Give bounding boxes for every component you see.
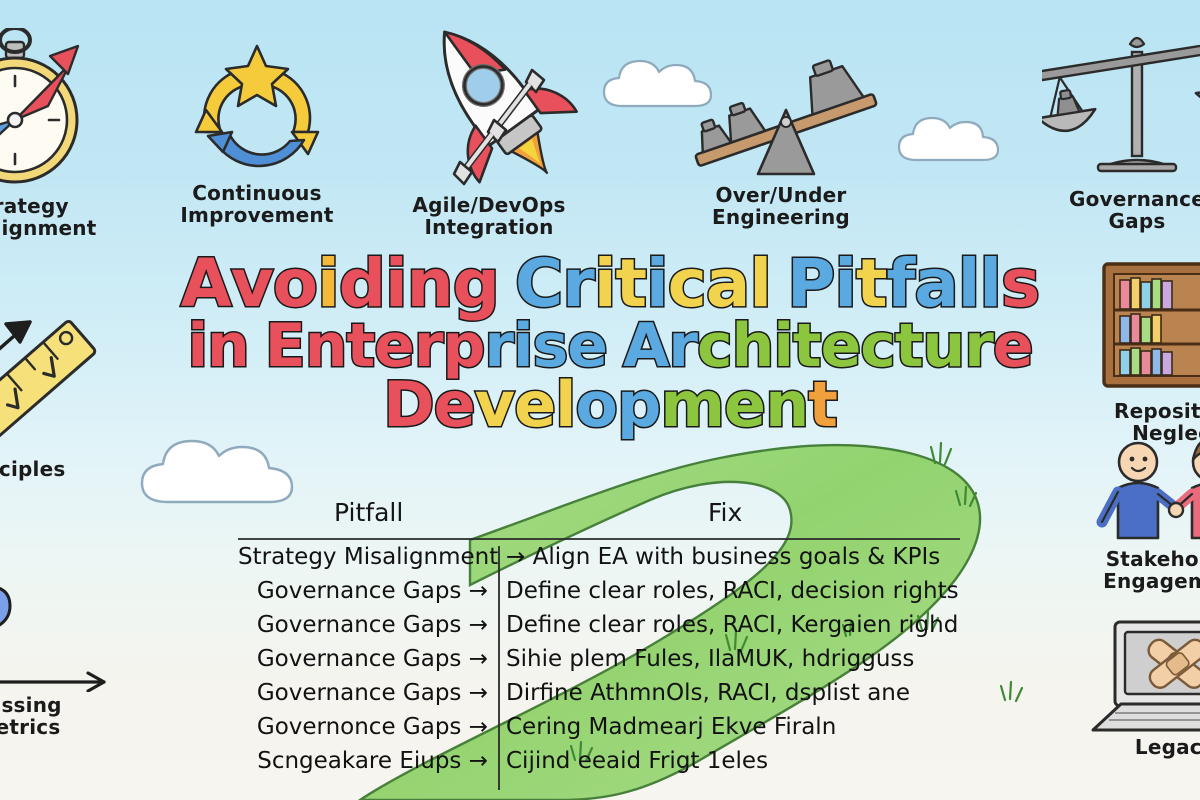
title-letter: i bbox=[773, 317, 793, 376]
icon-card-strategy-misalignment: Strategy Misalignment bbox=[0, 28, 114, 240]
title-letter: P bbox=[787, 252, 834, 317]
cell-fix: Dirfine AthmnOls, RACI, dsplist ane bbox=[496, 680, 960, 706]
cell-fix: → Align EA with business goals & KPIs bbox=[496, 544, 960, 570]
title-letter: e bbox=[514, 375, 555, 436]
icon-card-legacy-systems: Legacy bbox=[1080, 618, 1200, 758]
icon-card-agile-devops: Agile/DevOps Integration bbox=[394, 10, 584, 239]
title-letter: n bbox=[765, 375, 808, 436]
table-row: Governance Gaps →Define clear roles, RAC… bbox=[238, 612, 960, 646]
table-header-divider bbox=[238, 538, 960, 540]
icon-card-over-under-engineering: Over/Under Engineering bbox=[686, 52, 876, 229]
title-letter: a bbox=[914, 252, 958, 317]
title-letter: r bbox=[964, 317, 993, 376]
cell-pitfall: Governance Gaps → bbox=[238, 680, 496, 706]
icon-label-over-under-engineering: Over/Under Engineering bbox=[686, 184, 876, 229]
cell-pitfall: Governance Gaps → bbox=[238, 612, 496, 638]
question-mark-icon bbox=[0, 582, 118, 692]
icon-label-missing-metrics: Missing Metrics bbox=[0, 694, 118, 739]
title-letter: c bbox=[697, 317, 732, 376]
seesaw-weights-icon bbox=[686, 52, 886, 182]
table-row: Strategy Misalignment→ Align EA with bus… bbox=[238, 544, 960, 578]
pitfall-fix-table: Pitfall Fix Strategy Misalignment→ Align… bbox=[238, 498, 960, 782]
title-letter: i bbox=[385, 252, 407, 317]
icon-card-stakeholder-engagement: Stakeholder Engagement bbox=[1080, 438, 1200, 593]
title-letter: o bbox=[273, 252, 317, 317]
icon-card-principles: Principles bbox=[0, 286, 114, 480]
table-row: Governonce Gaps →Cering Madmearj Ekve Fi… bbox=[238, 714, 960, 748]
title-letter: i bbox=[317, 252, 339, 317]
title-letter: i bbox=[646, 252, 668, 317]
ruler-checklist-icon bbox=[0, 286, 114, 456]
title-line-3: Development bbox=[180, 375, 1040, 436]
table-row: Governance Gaps →Define clear roles, RAC… bbox=[238, 578, 960, 612]
cell-pitfall: Governance Gaps → bbox=[238, 646, 496, 672]
title-letter: E bbox=[265, 317, 305, 376]
cell-fix: Define clear roles, RACI, decision right… bbox=[496, 578, 960, 604]
icon-card-continuous-improvement: Continuous Improvement bbox=[162, 40, 352, 227]
laptop-bandaid-icon bbox=[1085, 618, 1200, 734]
title-letter: a bbox=[706, 252, 750, 317]
title-letter: u bbox=[923, 317, 965, 376]
table-header-row: Pitfall Fix bbox=[238, 498, 960, 536]
title-letter: f bbox=[887, 252, 915, 317]
cell-pitfall: Scngeakare Eiups → bbox=[238, 748, 496, 774]
icon-label-continuous-improvement: Continuous Improvement bbox=[162, 182, 352, 227]
cell-pitfall: Governonce Gaps → bbox=[238, 714, 496, 740]
icon-card-governance-gaps: Governance Gaps bbox=[1042, 26, 1200, 233]
title-letter: e bbox=[434, 375, 475, 436]
balance-scales-icon bbox=[1042, 26, 1200, 186]
icon-label-principles: Principles bbox=[0, 458, 114, 480]
rocket-icon bbox=[394, 10, 594, 192]
table-body: Strategy Misalignment→ Align EA with bus… bbox=[238, 544, 960, 782]
icon-label-agile-devops: Agile/DevOps Integration bbox=[394, 194, 584, 239]
title-letter: r bbox=[484, 317, 513, 376]
title-letter: v bbox=[231, 252, 273, 317]
title-letter: l bbox=[555, 375, 575, 436]
cell-fix: Define clear roles, RACI, Kergaien righd bbox=[496, 612, 960, 638]
title-letter: i bbox=[187, 317, 207, 376]
title-letter: c bbox=[860, 317, 895, 376]
title-letter: p bbox=[617, 375, 660, 436]
title-letter: r bbox=[668, 317, 697, 376]
title-letter: n bbox=[305, 317, 347, 376]
title-letter: c bbox=[668, 252, 706, 317]
title-letter: o bbox=[575, 375, 617, 436]
infographic-canvas: Strategy Misalignment Continuous Improve… bbox=[0, 0, 1200, 800]
title-letter: l bbox=[958, 252, 980, 317]
icon-card-repository-neglect: Repository Neglect bbox=[1086, 258, 1200, 445]
cell-pitfall: Strategy Misalignment bbox=[238, 544, 496, 570]
title-letter: l bbox=[979, 252, 1001, 317]
title-letter: r bbox=[562, 252, 594, 317]
icon-card-missing-metrics: Missing Metrics bbox=[0, 582, 118, 739]
bookshelf-icon bbox=[1096, 258, 1200, 398]
title-letter: t bbox=[808, 375, 837, 436]
column-header-pitfall: Pitfall bbox=[334, 498, 403, 527]
title-letter: v bbox=[475, 375, 514, 436]
title-letter: h bbox=[732, 317, 774, 376]
icon-label-governance-gaps: Governance Gaps bbox=[1042, 188, 1200, 233]
two-people-holding-hands-icon bbox=[1090, 438, 1200, 546]
refresh-cycle-star-icon bbox=[182, 40, 332, 180]
title-letter: l bbox=[749, 252, 771, 317]
table-row: Governance Gaps →Sihie plem Fules, IlaMU… bbox=[238, 646, 960, 680]
title-letter: e bbox=[724, 375, 765, 436]
title-letter: t bbox=[346, 317, 374, 376]
title-letter: t bbox=[856, 252, 887, 317]
icon-label-strategy-misalignment: Strategy Misalignment bbox=[0, 195, 114, 240]
title-letter: t bbox=[615, 252, 646, 317]
title-letter: A bbox=[623, 317, 668, 376]
title-letter: t bbox=[793, 317, 821, 376]
title-letter: e bbox=[821, 317, 861, 376]
title-letter: n bbox=[407, 252, 453, 317]
cell-fix: Sihie plem Fules, IlaMUK, hdrigguss bbox=[496, 646, 960, 672]
cell-fix: Cering Madmearj Ekve Firaln bbox=[496, 714, 960, 740]
icon-label-legacy-systems: Legacy bbox=[1080, 736, 1200, 758]
title-letter: i bbox=[834, 252, 856, 317]
title-letter: d bbox=[339, 252, 385, 317]
title-letter: D bbox=[383, 375, 433, 436]
title-letter: s bbox=[1001, 252, 1039, 317]
title-letter: s bbox=[533, 317, 568, 376]
page-title: AvoidingCriticalPitfalls inEnterpriseArc… bbox=[180, 252, 1040, 436]
title-letter: p bbox=[442, 317, 484, 376]
title-letter: r bbox=[414, 317, 443, 376]
cell-fix: Cijind eeaid Frigt 1eles bbox=[496, 748, 960, 774]
title-letter: e bbox=[567, 317, 607, 376]
title-letter: n bbox=[207, 317, 249, 376]
title-letter: g bbox=[453, 252, 499, 317]
compass-icon bbox=[0, 28, 114, 193]
title-letter: i bbox=[513, 317, 533, 376]
title-letter: e bbox=[374, 317, 414, 376]
cell-pitfall: Governance Gaps → bbox=[238, 578, 496, 604]
column-header-fix: Fix bbox=[708, 498, 742, 527]
table-row: Scngeakare Eiups →Cijind eeaid Frigt 1el… bbox=[238, 748, 960, 782]
title-letter: e bbox=[993, 317, 1033, 376]
title-letter: t bbox=[895, 317, 923, 376]
table-row: Governance Gaps →Dirfine AthmnOls, RACI,… bbox=[238, 680, 960, 714]
title-letter: A bbox=[181, 252, 231, 317]
title-line-2: inEnterpriseArchitecture bbox=[180, 317, 1040, 376]
title-letter: C bbox=[515, 252, 562, 317]
title-letter: i bbox=[594, 252, 616, 317]
title-line-1: AvoidingCriticalPitfalls bbox=[180, 252, 1040, 317]
icon-label-stakeholder-engagement: Stakeholder Engagement bbox=[1080, 548, 1200, 593]
title-letter: m bbox=[660, 375, 724, 436]
